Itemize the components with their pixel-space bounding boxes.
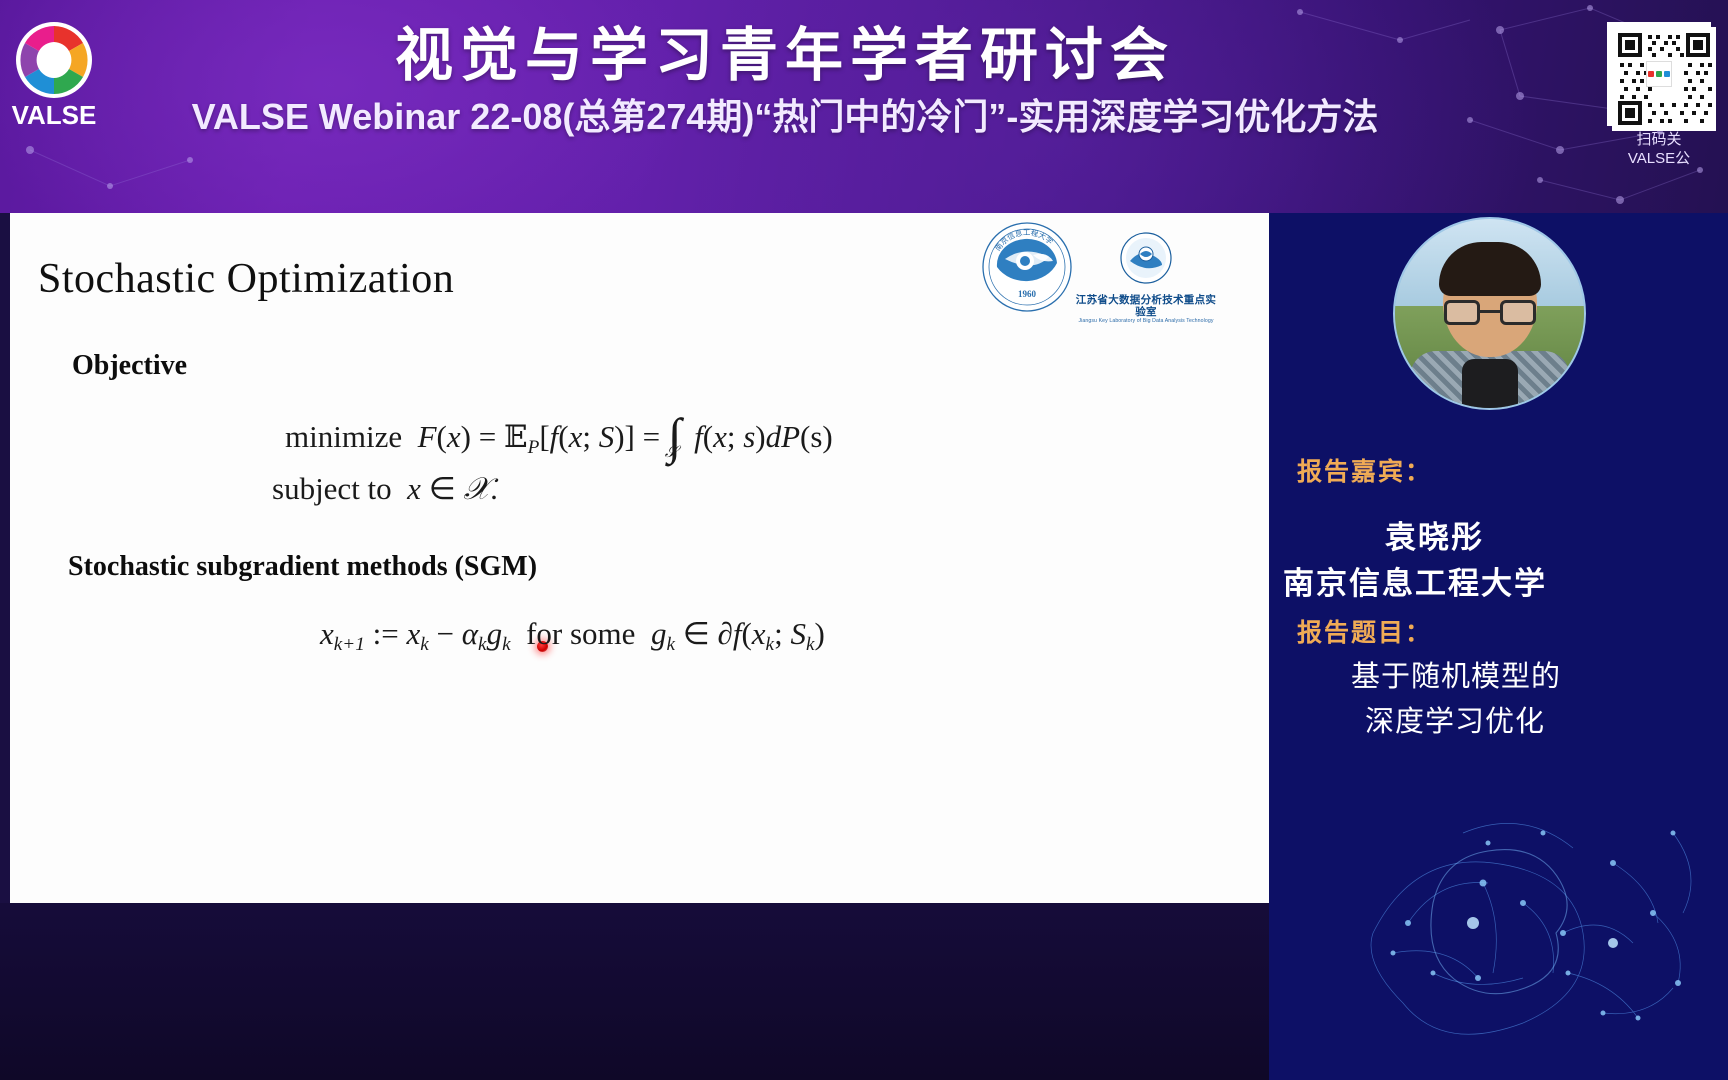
eq3-k-plus-1: k+1 [334, 634, 365, 655]
webinar-header-banner: VALSE 视觉与学习青年学者研讨会 VALSE Webinar 22-08(总… [0, 0, 1728, 213]
eq3-alpha: α [462, 616, 478, 651]
eq-expectation-subscript: P [528, 437, 540, 458]
university-seal-logo: 1960 南京信息工程大学 [981, 221, 1073, 313]
eq3-for-some: for some [526, 616, 635, 651]
eq3-k3: k [502, 634, 511, 655]
eq-equals: = [479, 419, 496, 454]
eq3-xk: x [406, 616, 420, 651]
equation-objective: minimize F(x) = 𝔼P[f(x; S)] = ∫𝒮f(x; s)d… [285, 401, 833, 459]
talk-title-line1: 基于随机模型的 [1351, 653, 1561, 695]
qr-block: 扫码关 VALSE公 [1598, 22, 1720, 169]
eq-element-of: ∈ [429, 471, 456, 506]
university-year: 1960 [1018, 289, 1037, 299]
eq3-g2: g [651, 616, 667, 651]
valse-logo-text: VALSE [12, 100, 97, 130]
eq3-semicolon: ; [774, 616, 783, 651]
eq-period: . [490, 471, 498, 506]
eq3-element-of: ∈ [683, 616, 710, 651]
eq-lparen: ( [437, 419, 447, 454]
glasses-icon [1444, 300, 1536, 325]
valse-logo: VALSE [8, 14, 100, 134]
eq-expectation-symbol: 𝔼 [504, 419, 528, 455]
eq-var-x: x [407, 471, 421, 506]
lab-name-cn: 江苏省大数据分析技术重点实验室 [1071, 295, 1221, 318]
eq-S: S [599, 419, 615, 454]
qr-code[interactable] [1607, 22, 1711, 126]
avatar-shirt [1462, 359, 1518, 410]
webinar-title-cn: 视觉与学习青年学者研讨会 [120, 24, 1450, 89]
lab-seal-icon [1110, 231, 1182, 289]
eq3-S: S [790, 616, 806, 651]
equation-sgm-update: xk+1 := xk − αkgk for some gk ∈ ∂f(xk; S… [320, 616, 825, 656]
eq-equals2: = [643, 419, 660, 454]
qr-caption-line2: VALSE公 [1598, 150, 1720, 169]
eq3-g: g [487, 616, 503, 651]
eq-f: f [550, 419, 559, 454]
eq3-xk2: x [752, 616, 766, 651]
eq-F: F [418, 419, 437, 454]
slide-title: Stochastic Optimization [38, 255, 454, 303]
speaker-organization: 南京信息工程大学 [1283, 558, 1547, 603]
speaker-name: 袁晓彤 [1385, 512, 1484, 557]
eq3-k5: k [766, 634, 775, 655]
webinar-subtitle: VALSE Webinar 22-08(总第274期)“热门中的冷门”-实用深度… [120, 95, 1450, 138]
speaker-avatar [1393, 217, 1586, 410]
presentation-slide[interactable]: Stochastic Optimization 1960 南京信息工程大学 [10, 213, 1269, 903]
lab-logo-block: 江苏省大数据分析技术重点实验室 Jiangsu Key Laboratory o… [1071, 231, 1221, 311]
eq3-minus: − [437, 616, 454, 651]
eq-x: x [447, 419, 461, 454]
eq3-x: x [320, 616, 334, 651]
eq-x2: x [569, 419, 583, 454]
eq-x3: x [713, 419, 727, 454]
eq3-f: f [733, 616, 742, 651]
eq-rbracket: )] [614, 419, 635, 454]
lab-name-en: Jiangsu Key Laboratory of Big Data Analy… [1071, 318, 1221, 324]
eq-feasible-set: 𝒳 [463, 471, 490, 507]
stream-bottom-strip [0, 903, 1269, 1080]
eq-s-tail: (s) [800, 419, 833, 454]
equation-constraint: subject to x ∈ 𝒳. [272, 471, 498, 508]
speaker-info-panel: 报告嘉宾： 袁晓彤 南京信息工程大学 报告题目： 基于随机模型的 深度学习优化 [1269, 213, 1728, 1080]
eq-f2: f [694, 419, 703, 454]
eq-s-low: s [743, 419, 755, 454]
header-title-group: 视觉与学习青年学者研讨会 VALSE Webinar 22-08(总第274期)… [120, 24, 1450, 138]
eq3-k6: k [806, 634, 815, 655]
label-guest: 报告嘉宾： [1297, 452, 1432, 488]
eq-dP: dP [766, 419, 800, 454]
eq-subject-to: subject to [272, 471, 392, 506]
eq3-k2: k [478, 634, 487, 655]
brain-network-decoration [1313, 773, 1728, 1073]
eq-lbracket: [ [539, 419, 549, 454]
eq-semicolon: ; [582, 419, 591, 454]
qr-caption: 扫码关 VALSE公 [1598, 131, 1720, 169]
section-heading-objective: Objective [72, 350, 187, 382]
talk-title-line2: 深度学习优化 [1365, 698, 1545, 740]
section-heading-sgm: Stochastic subgradient methods (SGM) [68, 551, 537, 583]
eq3-k1: k [420, 634, 429, 655]
webinar-stream-view: VALSE 视觉与学习青年学者研讨会 VALSE Webinar 22-08(总… [0, 0, 1728, 1080]
eq3-assign: := [373, 616, 399, 651]
eq-minimize-word: minimize [285, 419, 402, 454]
eq-rparen: ) [461, 419, 471, 454]
eq3-k4: k [666, 634, 675, 655]
qr-caption-line1: 扫码关 [1598, 131, 1720, 150]
label-topic: 报告题目： [1297, 613, 1432, 649]
qr-center-logo [1646, 61, 1672, 87]
eq-integral-domain: 𝒮 [665, 442, 677, 461]
eq3-partial: ∂ [717, 616, 732, 651]
